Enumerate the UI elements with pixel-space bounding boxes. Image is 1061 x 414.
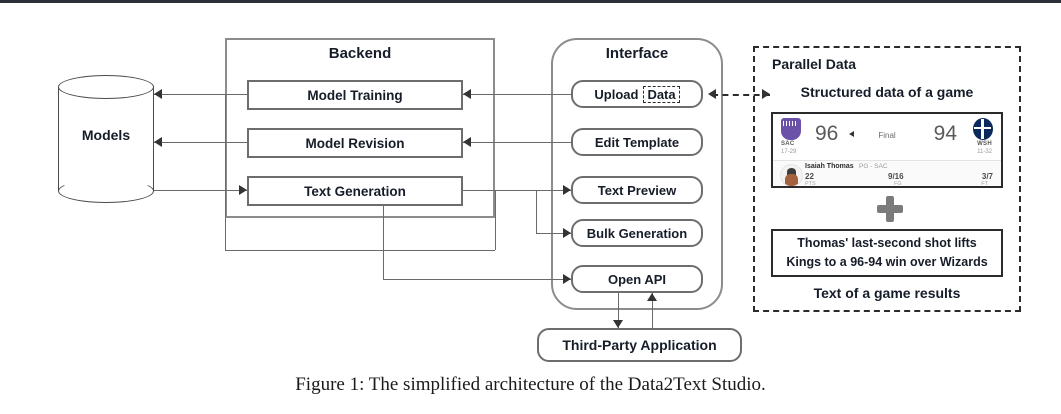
- edge-backend-right-rail: [495, 190, 496, 250]
- home-team-record: 11-32: [977, 149, 992, 155]
- arrowhead-upload-to-training: [463, 89, 471, 99]
- arrowhead-training-to-models: [154, 89, 162, 99]
- generated-sentence-line-2: Kings to a 96-94 win over Wizards: [786, 254, 987, 271]
- edge-textgen-to-openapi-horizontal: [383, 279, 571, 280]
- upload-data-chip: Data: [643, 86, 679, 103]
- player-stat-ft-label: FT: [981, 181, 988, 187]
- player-stat-fg-label: FG: [894, 181, 902, 187]
- interface-module-upload-data[interactable]: Upload Data: [571, 80, 703, 108]
- home-team-score: 94: [934, 122, 957, 146]
- arrowhead-edit-template-to-revision: [463, 137, 471, 147]
- game-status-label: Final: [773, 131, 1001, 140]
- arrowhead-revision-to-models: [154, 137, 162, 147]
- plus-icon: [877, 196, 903, 222]
- backend-title: Backend: [225, 45, 495, 62]
- arrowhead-models-to-text-generation: [239, 185, 247, 195]
- scoreboard-player-row: Isaiah Thomas PG - SAC 22 PTS 9/16 FG 3/…: [773, 161, 1001, 188]
- cylinder-bottom-cap: [58, 179, 154, 203]
- generated-sentence-line-1: Thomas' last-second shot lifts: [797, 235, 976, 252]
- player-stat-fg-value: 9/16: [888, 172, 904, 181]
- home-team-abbr: WSH: [977, 141, 992, 147]
- interface-module-upload-label: Upload: [594, 87, 638, 102]
- interface-module-edit-template[interactable]: Edit Template: [571, 128, 703, 156]
- edge-edit-template-to-revision: [463, 142, 571, 143]
- player-position: PG - SAC: [859, 163, 888, 170]
- edge-textgen-branch-vertical: [536, 190, 537, 233]
- page-top-rule: [0, 0, 1061, 3]
- player-stat-pts-value: 22: [805, 172, 814, 181]
- player-avatar-icon: [780, 164, 803, 187]
- edge-backend-bottom-rail: [225, 250, 495, 251]
- backend-module-model-training-label: Model Training: [307, 88, 402, 103]
- player-stat-ft-value: 3/7: [982, 172, 993, 181]
- arrowhead-parallel-to-upload: [708, 89, 716, 99]
- player-stat-pts-label: PTS: [805, 181, 816, 187]
- edge-upload-to-training: [463, 94, 571, 95]
- text-of-game-results-caption: Text of a game results: [753, 285, 1021, 301]
- backend-module-text-generation-label: Text Generation: [304, 184, 406, 199]
- scoreboard-card: SAC 17-29 96 Final 94 WSH 11-32 Isaiah T…: [771, 112, 1003, 188]
- generated-sentence-box: Thomas' last-second shot lifts Kings to …: [771, 229, 1003, 277]
- edge-training-to-models: [154, 94, 247, 95]
- structured-data-caption: Structured data of a game: [753, 84, 1021, 100]
- edge-textgen-to-openapi-vertical: [383, 206, 384, 279]
- scoreboard-teams-row: SAC 17-29 96 Final 94 WSH 11-32: [773, 114, 1001, 161]
- edge-revision-to-models: [154, 142, 247, 143]
- away-team-record: 17-29: [781, 149, 796, 155]
- figure-caption: Figure 1: The simplified architecture of…: [0, 374, 1061, 396]
- plus-icon-vertical: [886, 196, 894, 222]
- interface-module-text-preview[interactable]: Text Preview: [571, 176, 703, 204]
- figure-architecture-diagram: Models Backend Model Training Model Revi…: [0, 0, 1061, 414]
- arrowhead-textgen-to-openapi: [563, 274, 571, 284]
- interface-module-bulk-generation-label: Bulk Generation: [587, 226, 687, 241]
- third-party-application-box[interactable]: Third-Party Application: [537, 328, 742, 362]
- backend-module-model-revision-label: Model Revision: [305, 136, 404, 151]
- interface-module-bulk-generation[interactable]: Bulk Generation: [571, 219, 703, 247]
- edge-models-to-text-generation: [154, 190, 247, 191]
- wizards-crest-icon: [973, 118, 993, 140]
- backend-module-model-revision[interactable]: Model Revision: [247, 128, 463, 158]
- arrowhead-textgen-to-bulk: [563, 228, 571, 238]
- interface-module-text-preview-label: Text Preview: [598, 183, 677, 198]
- models-database-cylinder: Models: [58, 75, 154, 203]
- arrowhead-textgen-to-preview: [563, 185, 571, 195]
- arrowhead-openapi-to-thirdparty: [613, 320, 623, 328]
- third-party-application-label: Third-Party Application: [562, 337, 716, 353]
- parallel-data-title: Parallel Data: [772, 56, 856, 72]
- cylinder-top-cap: [58, 75, 154, 99]
- models-label: Models: [58, 127, 154, 143]
- interface-module-open-api[interactable]: Open API: [571, 265, 703, 293]
- interface-title: Interface: [551, 45, 723, 62]
- interface-module-open-api-label: Open API: [608, 272, 666, 287]
- backend-module-text-generation[interactable]: Text Generation: [247, 176, 463, 206]
- edge-textgen-to-preview: [463, 190, 571, 191]
- away-team-abbr: SAC: [781, 141, 795, 147]
- player-name: Isaiah Thomas: [805, 163, 854, 170]
- avatar-torso: [785, 174, 798, 187]
- edge-backend-left-rail: [225, 94, 226, 250]
- arrowhead-thirdparty-to-openapi: [647, 293, 657, 301]
- interface-module-edit-template-label: Edit Template: [595, 135, 679, 150]
- backend-module-model-training[interactable]: Model Training: [247, 80, 463, 110]
